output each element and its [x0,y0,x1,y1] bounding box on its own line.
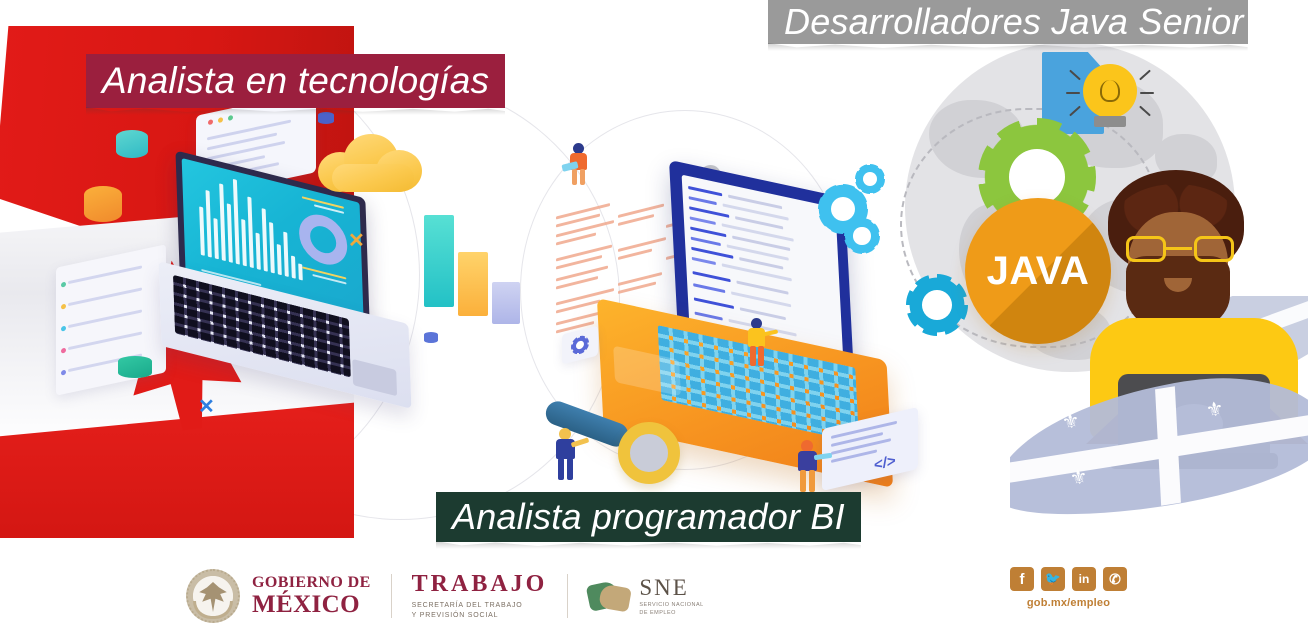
person-figure [794,440,822,496]
trabajo-subtitle-1: SECRETARÍA DEL TRABAJO [412,601,548,611]
bar-cube [458,252,488,316]
sne-logo: SNE SERVICIO NACIONAL DE EMPLEO [588,575,703,618]
dashboard-laptop [160,175,420,390]
gobierno-line2: MÉXICO [252,592,371,618]
fleur-de-lis-icon: ⚜ [1069,467,1090,490]
person-figure [552,428,580,484]
banner-analista-programador: Analista programador BI [436,492,861,542]
facebook-icon[interactable]: f [1010,567,1034,591]
sne-subtitle-1: SERVICIO NACIONAL [639,601,703,609]
bar-cube [424,215,454,307]
quebec-flag-ribbon: ⚜ ⚜ ⚜ [1010,372,1308,553]
banner-analista-tecnologias: Analista en tecnologías [86,54,505,108]
illustration-area: ✕ ✕ ⇩ ⇩ ✕ ✕ ✕ [0,0,1308,553]
fleur-de-lis-icon: ⚜ [1205,399,1226,422]
cylinder-shape [116,130,148,158]
laptop-trackpad [352,359,397,396]
lightbulb-icon [1083,64,1137,118]
bulb-base [1094,116,1126,127]
x-marker: ✕ [348,228,365,253]
twitter-icon[interactable]: 🐦 [1041,567,1065,591]
person-figure [744,318,770,370]
gear-icon [844,218,880,254]
gobierno-line1: GOBIERNO DE [252,574,371,592]
handshake-icon [588,579,630,613]
person-figure [566,143,592,189]
gobierno-de-mexico-logo: GOBIERNO DE MÉXICO [186,569,371,623]
donut-chart [298,209,348,270]
logo-divider [391,574,392,618]
cylinder-shape [84,186,122,222]
banner-desarrolladores-java: Desarrolladores Java Senior [768,0,1248,44]
trabajo-logo: TRABAJO SECRETARÍA DEL TRABAJO Y PREVISI… [412,571,548,621]
whatsapp-icon[interactable]: ✆ [1103,567,1127,591]
light-ray [1140,92,1154,94]
cylinder-shape [118,356,152,378]
institutional-logos: GOBIERNO DE MÉXICO TRABAJO SECRETARÍA DE… [186,559,704,633]
footer: GOBIERNO DE MÉXICO TRABAJO SECRETARÍA DE… [0,553,1308,640]
social-links: f 🐦 in ✆ gob.mx/empleo [1010,567,1127,609]
glasses-icon [1126,236,1234,262]
java-badge-label: JAVA [987,249,1090,294]
linkedin-icon[interactable]: in [1072,567,1096,591]
ring-dot [424,332,438,343]
x-marker: ✕ [198,394,215,419]
trabajo-subtitle-2: Y PREVISIÓN SOCIAL [412,611,548,621]
bar-cube [492,282,520,324]
logo-divider [567,574,568,618]
gear-icon [855,164,885,194]
cloud-icon [318,130,428,196]
sne-subtitle-2: DE EMPLEO [639,609,703,617]
job-vacancy-poster: ✕ ✕ ⇩ ⇩ ✕ ✕ ✕ [0,0,1308,640]
mexican-coat-of-arms-icon [186,569,240,623]
sne-title: SNE [639,575,703,601]
trabajo-title: TRABAJO [412,571,548,598]
fleur-de-lis-icon: ⚜ [1061,411,1082,434]
social-url[interactable]: gob.mx/empleo [1010,597,1127,609]
gear-icon [906,274,968,336]
light-ray [1066,92,1080,94]
